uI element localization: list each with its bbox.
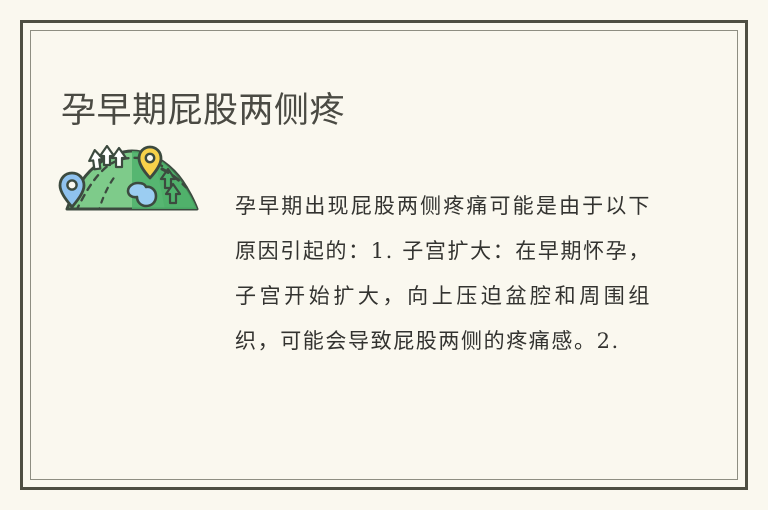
article-content: 孕早期出现屁股两侧疼痛可能是由于以下原因引起的：1. 子宫扩大：在早期怀孕，子宫…: [58, 145, 698, 425]
map-hill-illustration: [58, 145, 206, 215]
hill-base: [67, 149, 199, 215]
page-title: 孕早期屁股两侧疼: [61, 89, 701, 133]
article-page: 孕早期屁股两侧疼: [0, 0, 768, 510]
article-body-text: 孕早期出现屁股两侧疼痛可能是由于以下原因引起的：1. 子宫扩大：在早期怀孕，子宫…: [235, 184, 651, 364]
